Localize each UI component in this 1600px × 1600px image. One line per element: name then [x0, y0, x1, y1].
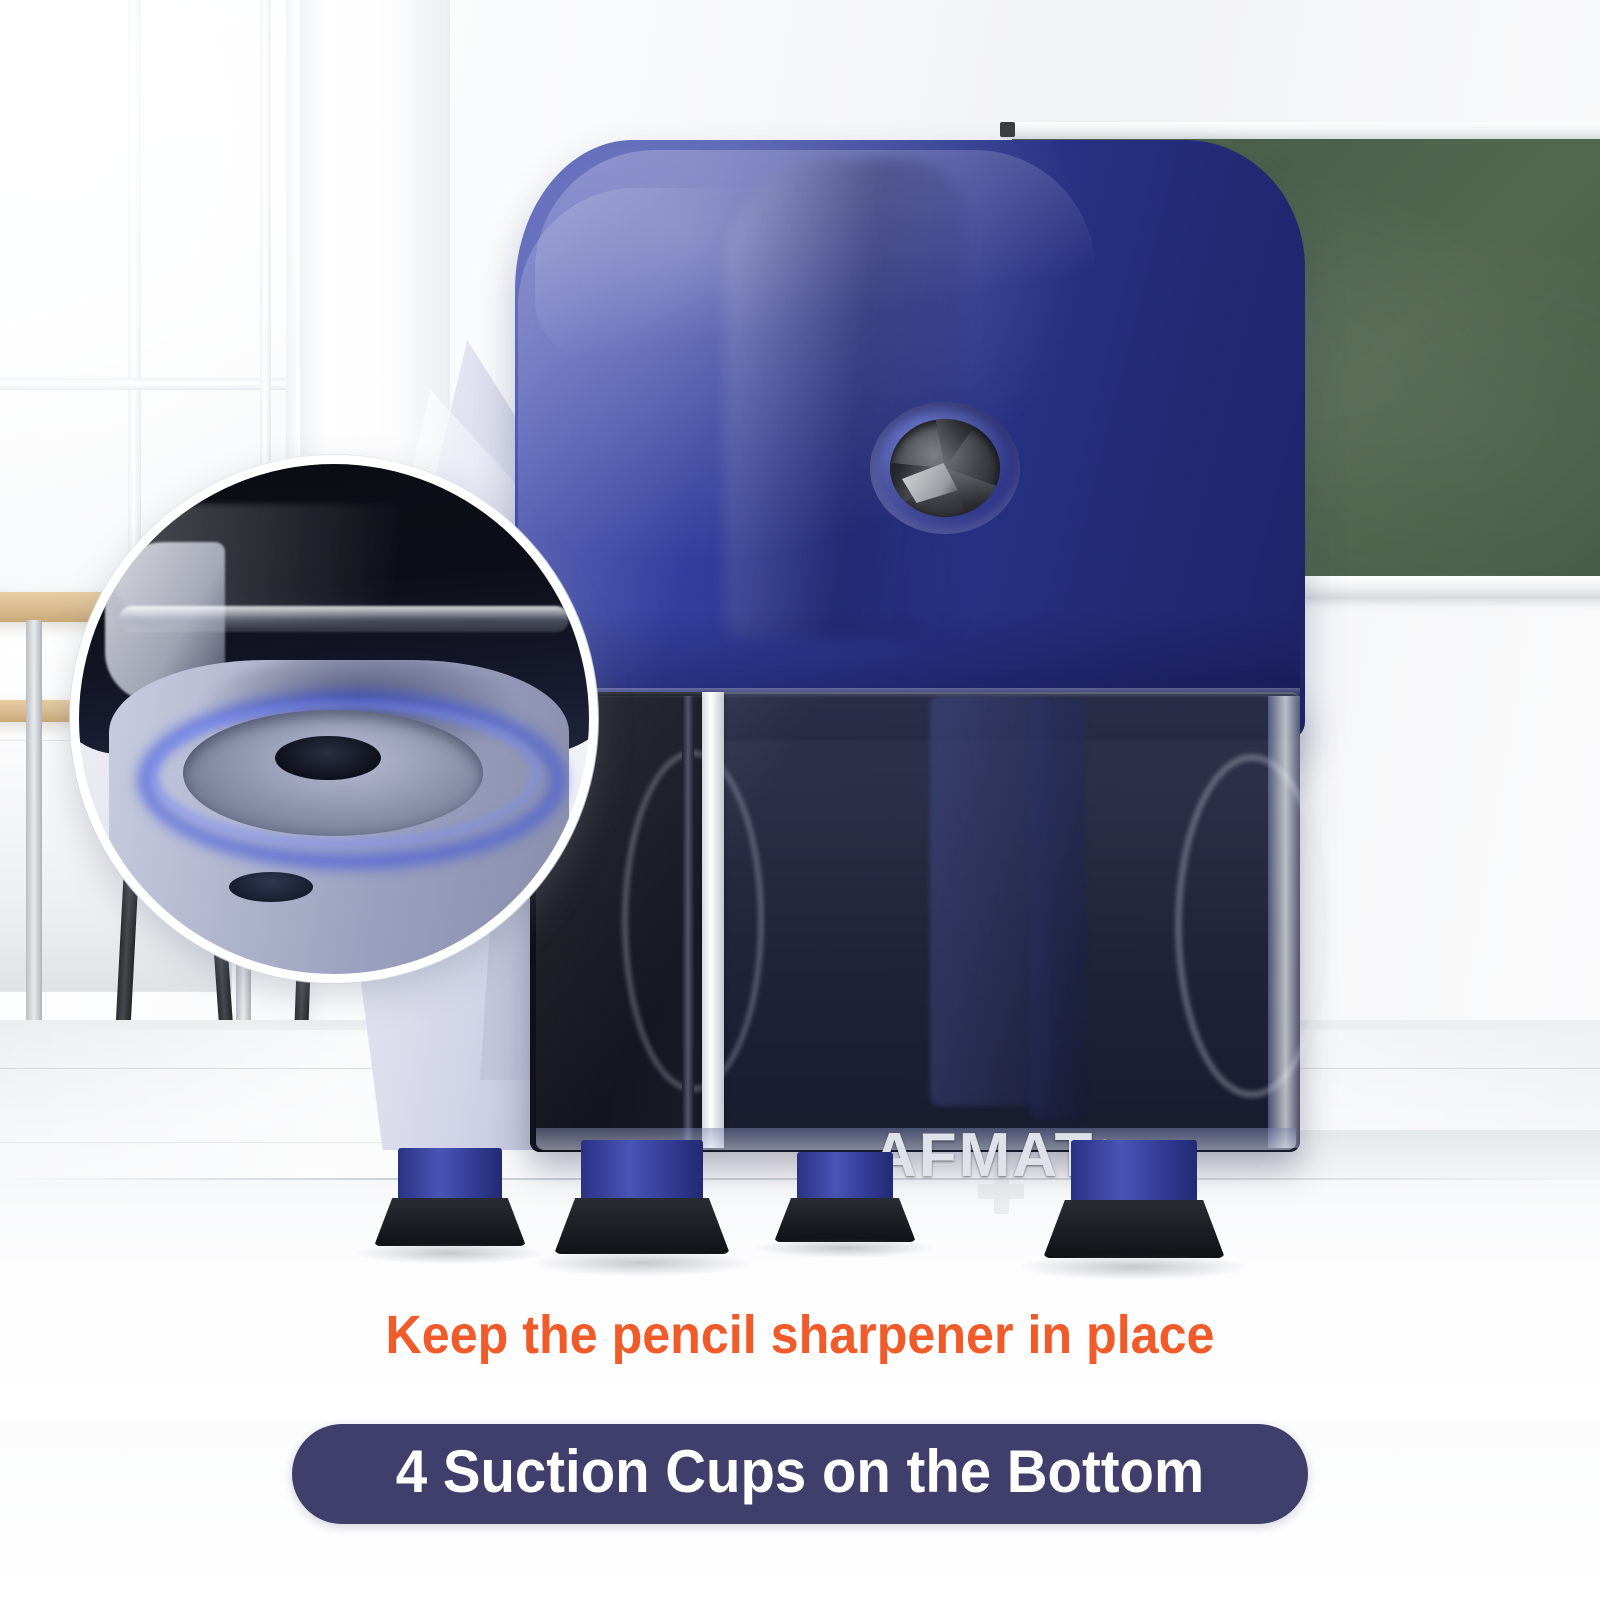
bin-top-lip	[530, 688, 1300, 698]
bin-trim-dark	[682, 696, 694, 1144]
desk-leg-metal-1	[26, 620, 42, 1060]
bin-right-edge-glass	[1268, 696, 1300, 1148]
pencil-insertion-hole[interactable]	[870, 402, 1020, 534]
inset-cup-center-hole	[275, 736, 381, 780]
marketing-headline: Keep the pencil sharpener in place	[56, 1304, 1544, 1366]
suction-cup-closeup-inset	[70, 455, 598, 983]
chalkboard-corner-cap-left	[1000, 122, 1015, 137]
banner-wrap: 4 Suction Cups on the Bottom	[0, 1424, 1600, 1524]
hole-interior	[890, 419, 1000, 517]
inset-chrome-strip	[119, 606, 569, 632]
chalkboard-top-rail	[1000, 122, 1600, 139]
feature-banner: 4 Suction Cups on the Bottom	[292, 1424, 1308, 1524]
product-marketing-image: AFMAT®	[0, 0, 1600, 1600]
bin-internal-component-2	[1030, 700, 1086, 1120]
suction-cups-group	[330, 1140, 1310, 1250]
feature-banner-text: 4 Suction Cups on the Bottom	[396, 1440, 1204, 1504]
inset-secondary-hole	[229, 872, 313, 902]
bin-vertical-trim	[702, 692, 724, 1148]
shell-center-crease	[725, 158, 965, 638]
bin-right-oval-reflection	[1175, 754, 1329, 1098]
